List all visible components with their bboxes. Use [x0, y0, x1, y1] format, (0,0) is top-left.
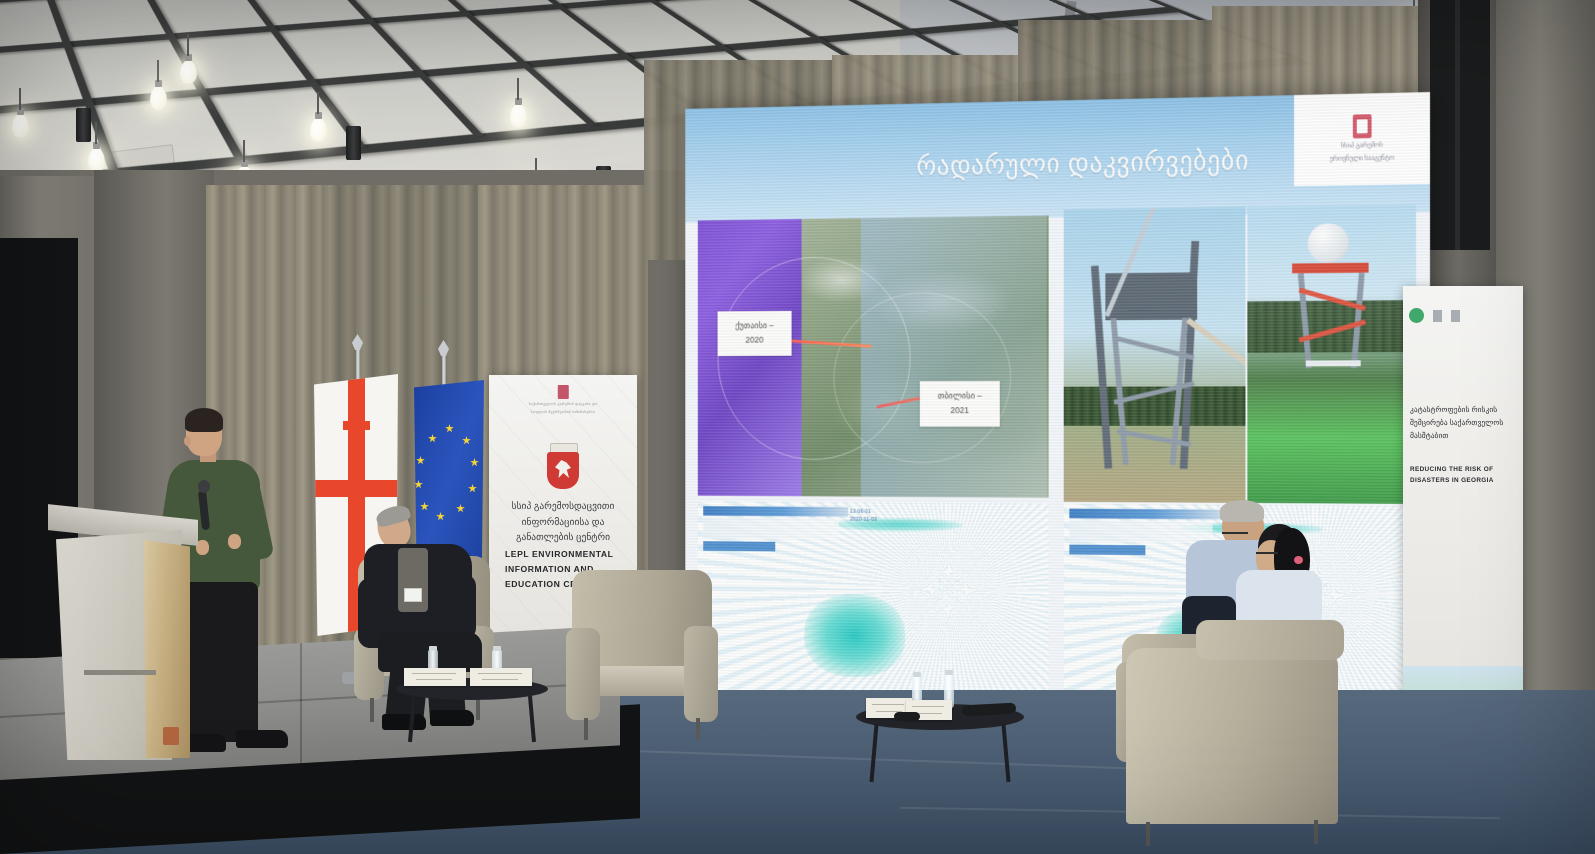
bottle-cap	[913, 672, 921, 677]
pendant-bulb	[180, 60, 197, 84]
map-label-place: ქუთაისი –	[726, 319, 784, 334]
speaker-ear	[184, 436, 191, 446]
map-label-year: 2020	[726, 333, 784, 348]
pendant-bulb	[510, 104, 527, 128]
podium-emblem-plate	[163, 727, 179, 745]
banner-ka-line2: ინფორმაციისა და	[497, 515, 629, 531]
panelist-shirt	[398, 548, 428, 612]
banner-georgian-title: სსიპ გარემოსდაცვითი ინფორმაციისა და განა…	[497, 499, 629, 546]
partner-logos	[1409, 308, 1517, 323]
green-globe-logo-icon	[1409, 308, 1424, 323]
banner-right-en-line2: DISASTERS IN GEORGIA	[1410, 475, 1514, 486]
panelist-name-badge	[404, 588, 422, 602]
podium-lectern[interactable]	[48, 512, 198, 760]
speaker-hand-right	[228, 534, 241, 549]
pendant-bulb	[150, 86, 167, 110]
agency-logo-line1: სსიპ გარემოს	[1341, 141, 1383, 151]
pendant-bulb	[12, 114, 29, 138]
banner-right-ka-line1: კატასტროფების რისკის	[1410, 404, 1514, 417]
spotlight-can	[76, 108, 91, 142]
radar-panel-legend	[703, 517, 839, 539]
map-label-kutaisi: ქუთაისი – 2020	[718, 311, 792, 356]
ministry-logo-mark	[558, 385, 569, 399]
radome	[1308, 223, 1349, 263]
banner-right-ka-line3: მასშტაბით	[1410, 430, 1514, 443]
banner-ka-line1: სსიპ გარემოსდაცვითი	[497, 499, 629, 515]
bottle-cap	[945, 670, 953, 675]
banner-right-ka-line2: შემცირება საქართველოს	[1410, 417, 1514, 430]
radar-panel-legend	[1069, 520, 1212, 543]
radar-panel-colorbar	[1069, 509, 1222, 520]
panelist-shoe	[382, 714, 426, 730]
name-card	[470, 668, 532, 686]
speaker-hair	[185, 408, 223, 432]
dark-window	[1430, 0, 1490, 250]
banner-en-line1: LEPL ENVIRONMENTAL	[505, 547, 633, 562]
partner-logo-icon	[1451, 310, 1460, 322]
pendant-bulb	[310, 118, 327, 142]
agency-logo: სსიპ გარემოს ეროვნული სააგენტო	[1294, 92, 1430, 186]
audience-man-hair	[1220, 500, 1264, 522]
partner-logo-icon	[1433, 310, 1442, 322]
map-label-year: 2021	[928, 404, 991, 419]
hair-scrunchie	[1294, 556, 1303, 564]
radar-coverage-map: ქუთაისი – 2020 თბილისი – 2021	[698, 215, 1049, 497]
speaker-shoe	[236, 730, 288, 748]
panelist-arm	[448, 574, 476, 640]
georgia-coat-of-arms	[543, 443, 583, 489]
bottle-cap	[429, 646, 437, 651]
radar-panel-colorbar	[703, 506, 848, 517]
podium-wood-column	[144, 540, 190, 758]
bottle-cap	[493, 646, 501, 651]
ministry-logo: საქართველოს გარემოს დაცვისა და სოფლის მე…	[529, 385, 597, 416]
name-card	[404, 668, 466, 686]
ministry-line1: საქართველოს გარემოს დაცვისა და	[529, 402, 597, 407]
photo-completed-radar-tower	[1247, 204, 1416, 504]
map-label-tbilisi: თბილისი – 2021	[920, 381, 1000, 426]
eyeglasses	[1222, 532, 1248, 534]
map-label-place: თბილისი –	[928, 389, 991, 404]
banner-right-english-title: REDUCING THE RISK OF DISASTERS IN GEORGI…	[1410, 464, 1514, 486]
photo-radar-tower-under-construction	[1064, 207, 1246, 503]
radar-timestamp-date: 2020-11-09	[850, 516, 877, 524]
conference-photo-scene: რადარული დაკვირვებები სსიპ გარემოს ეროვნ…	[0, 0, 1595, 854]
banner-right-en-line1: REDUCING THE RISK OF	[1410, 464, 1514, 475]
podium-trim-strip	[84, 670, 156, 675]
pendant-bulb	[88, 148, 105, 172]
agency-logo-mark	[1352, 114, 1371, 138]
eyeglasses	[1256, 552, 1278, 554]
panelist-shoe	[430, 710, 474, 726]
banner-ka-line3: განათლების ცენტრი	[497, 530, 629, 546]
window-mullion	[1455, 0, 1460, 250]
microphone-head	[198, 480, 210, 493]
radar-range-ring	[833, 292, 1011, 464]
ministry-line2: სოფლის მეურნეობის სამინისტრო	[531, 410, 596, 415]
spotlight-can	[346, 126, 361, 160]
agency-logo-line2: ეროვნული სააგენტო	[1329, 154, 1394, 165]
banner-right-georgian-title: კატასტროფების რისკის შემცირება საქართველ…	[1410, 404, 1514, 443]
microphone-cable	[894, 712, 920, 721]
